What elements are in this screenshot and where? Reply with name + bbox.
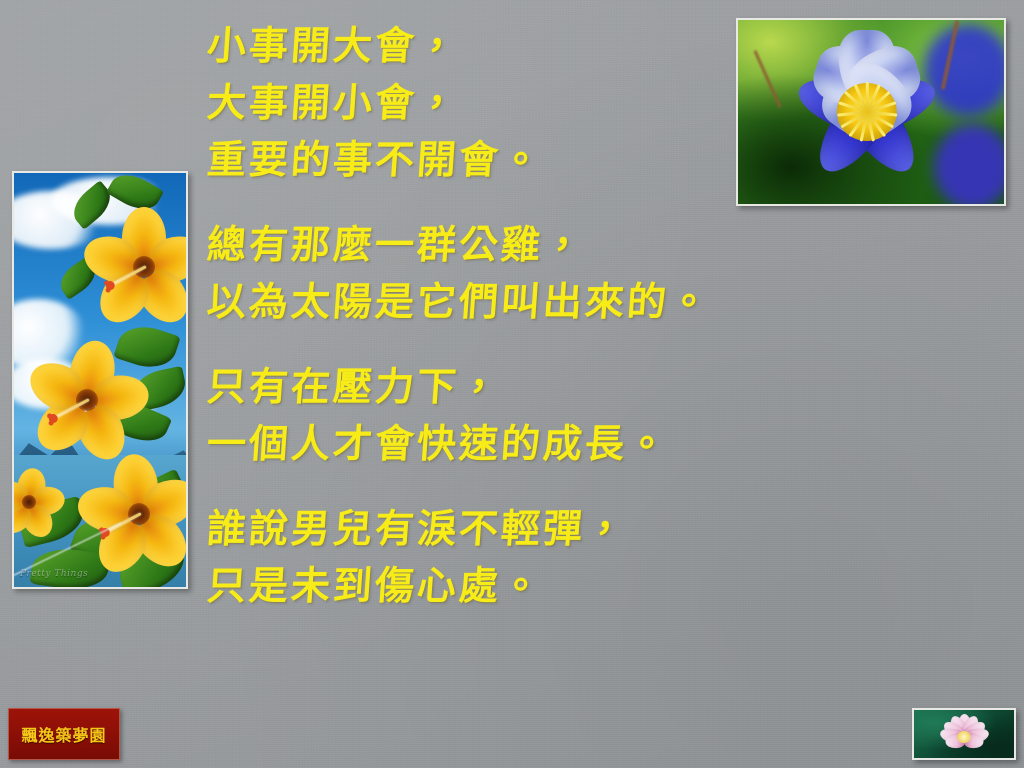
verse-line: 只是未到傷心處。 [205, 558, 909, 615]
pink-lotus-flower-photo [912, 708, 1016, 760]
hibiscus-bloom [40, 353, 134, 447]
verse-line: 以為太陽是它們叫出來的。 [205, 274, 909, 331]
verse-line: 小事開大會， [205, 18, 909, 75]
site-logo-banner[interactable]: 飄逸築夢園 [8, 708, 120, 760]
lotus-center [957, 731, 971, 743]
verse-line: 重要的事不開會。 [205, 132, 909, 189]
lotus-bloom [933, 714, 995, 758]
stanza-3: 只有在壓力下， 一個人才會快速的成長。 [207, 359, 907, 473]
hibiscus-bloom [92, 215, 188, 319]
verse-text-block: 小事開大會， 大事開小會， 重要的事不開會。 總有那麼一群公雞， 以為太陽是它們… [207, 18, 907, 615]
stanza-2: 總有那麼一群公雞， 以為太陽是它們叫出來的。 [207, 217, 907, 331]
stanza-1: 小事開大會， 大事開小會， 重要的事不開會。 [207, 18, 907, 189]
slide-canvas: Pretty Things 小事開大會， 大事開小會， 重要的事不開會。 總有那… [0, 0, 1024, 768]
hibiscus-bloom-small [12, 473, 58, 531]
verse-line: 大事開小會， [205, 75, 909, 132]
photo-watermark: Pretty Things [20, 569, 88, 579]
yellow-hibiscus-flowers-photo: Pretty Things [12, 171, 188, 589]
verse-line: 一個人才會快速的成長。 [205, 416, 909, 473]
verse-line: 總有那麼一群公雞， [205, 217, 909, 274]
stanza-4: 誰說男兒有淚不輕彈， 只是未到傷心處。 [207, 501, 907, 615]
verse-line: 只有在壓力下， [205, 359, 909, 416]
hibiscus-bloom [86, 461, 188, 567]
site-logo-text: 飄逸築夢園 [21, 722, 106, 746]
verse-line: 誰說男兒有淚不輕彈， [205, 501, 909, 558]
